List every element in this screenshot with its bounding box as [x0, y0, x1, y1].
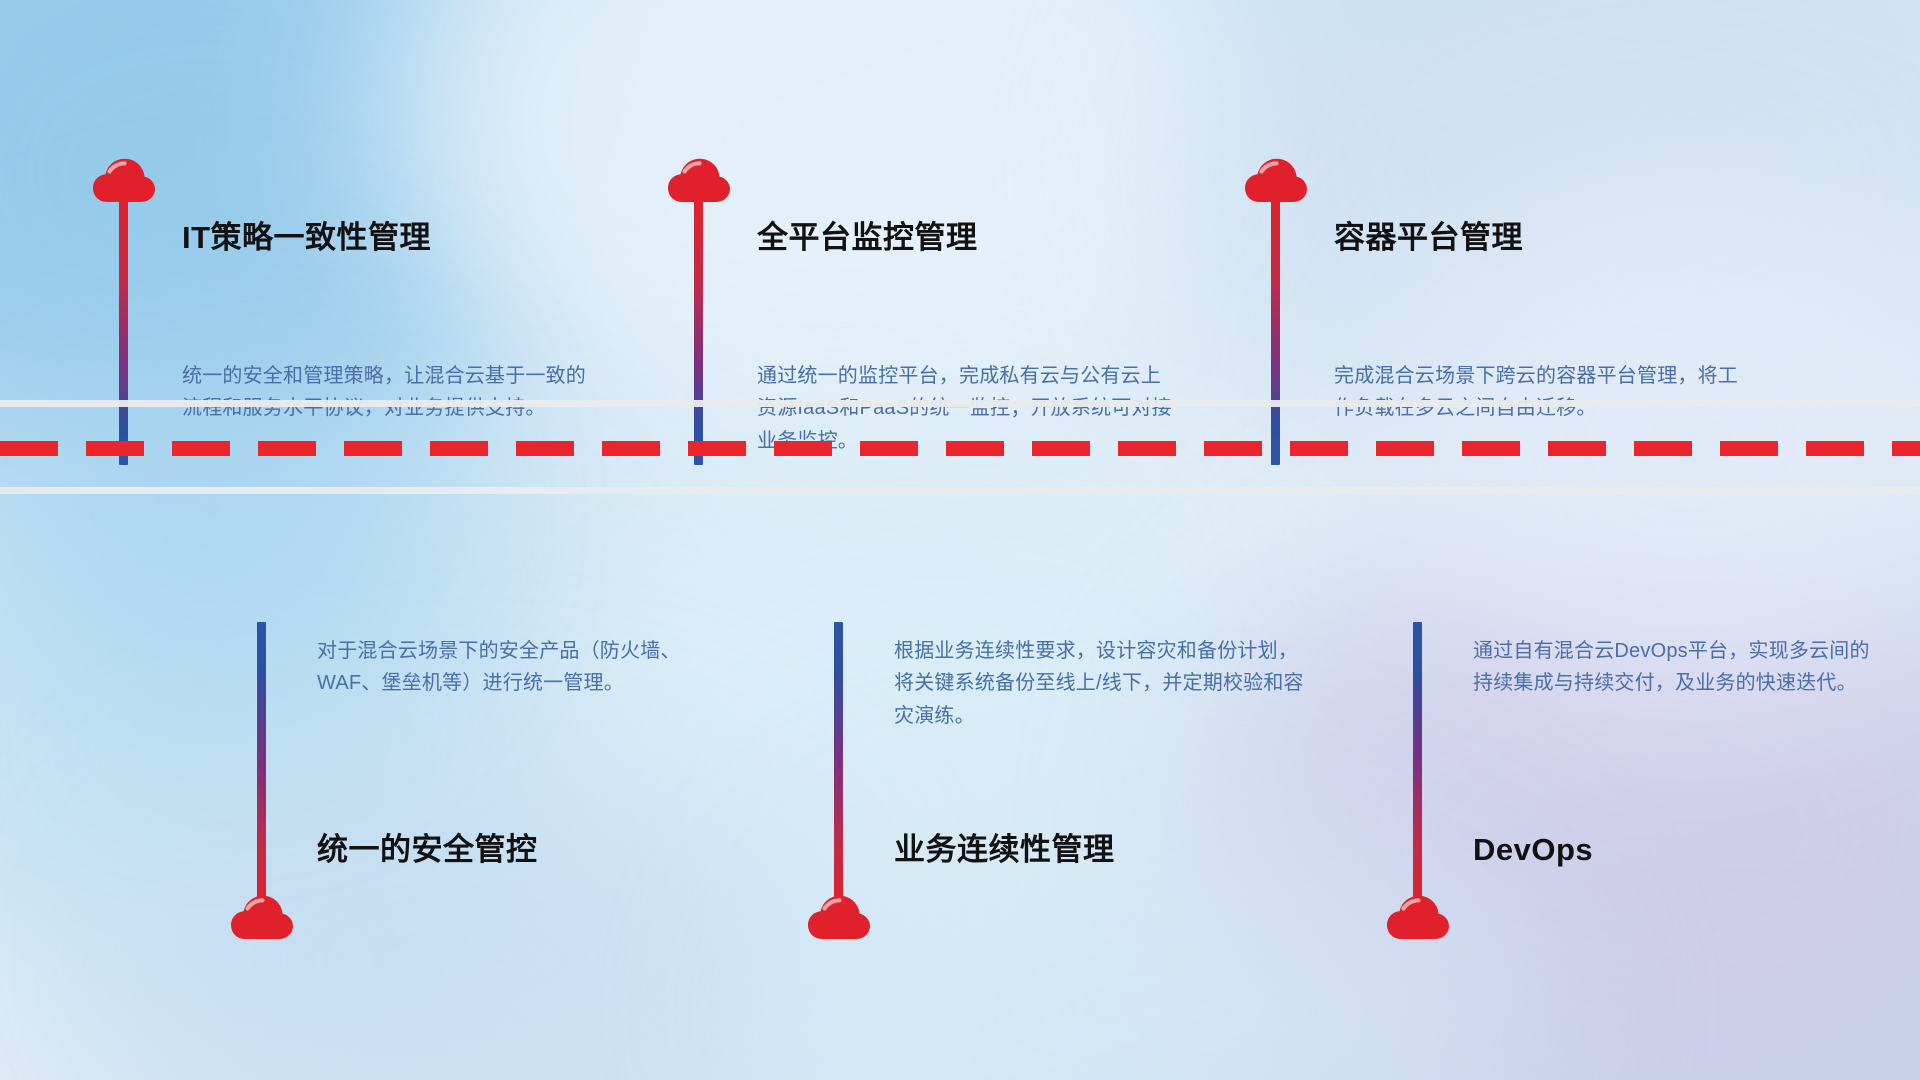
connector-bar: [257, 622, 266, 912]
infographic-canvas: IT策略一致性管理 统一的安全和管理策略，让混合云基于一致的流程和服务水平协议，…: [0, 0, 1920, 1080]
divider-rule-top: [0, 400, 1920, 407]
cloud-icon: [1387, 895, 1449, 941]
feature-description: 通过自有混合云DevOps平台，实现多云间的持续集成与持续交付，及业务的快速迭代…: [1473, 635, 1873, 700]
feature-title: IT策略一致性管理: [182, 222, 431, 253]
connector-bar: [694, 200, 703, 465]
connector-bar: [119, 200, 128, 465]
feature-description: 统一的安全和管理策略，让混合云基于一致的流程和服务水平协议，对业务提供支持。: [182, 360, 602, 425]
feature-description: 对于混合云场景下的安全产品（防火墙、WAF、堡垒机等）进行统一管理。: [317, 635, 737, 700]
connector-bar: [1271, 200, 1280, 465]
feature-title: 容器平台管理: [1334, 222, 1523, 253]
divider-rule-bottom: [0, 487, 1920, 494]
cloud-icon: [93, 158, 155, 204]
feature-description: 完成混合云场景下跨云的容器平台管理，将工作负载在多云之间自由迁移。: [1334, 360, 1754, 425]
cloud-icon: [231, 895, 293, 941]
cloud-icon: [808, 895, 870, 941]
connector-bar: [834, 622, 843, 912]
cloud-icon: [1245, 158, 1307, 204]
feature-description: 根据业务连续性要求，设计容灾和备份计划，将关键系统备份至线上/线下，并定期校验和…: [894, 635, 1314, 732]
dashed-separator-line: [0, 441, 1920, 456]
connector-bar: [1413, 622, 1422, 912]
feature-title: DevOps: [1473, 834, 1593, 865]
feature-title: 全平台监控管理: [757, 222, 978, 253]
feature-title: 统一的安全管控: [317, 834, 538, 865]
cloud-icon: [668, 158, 730, 204]
feature-title: 业务连续性管理: [894, 834, 1115, 865]
